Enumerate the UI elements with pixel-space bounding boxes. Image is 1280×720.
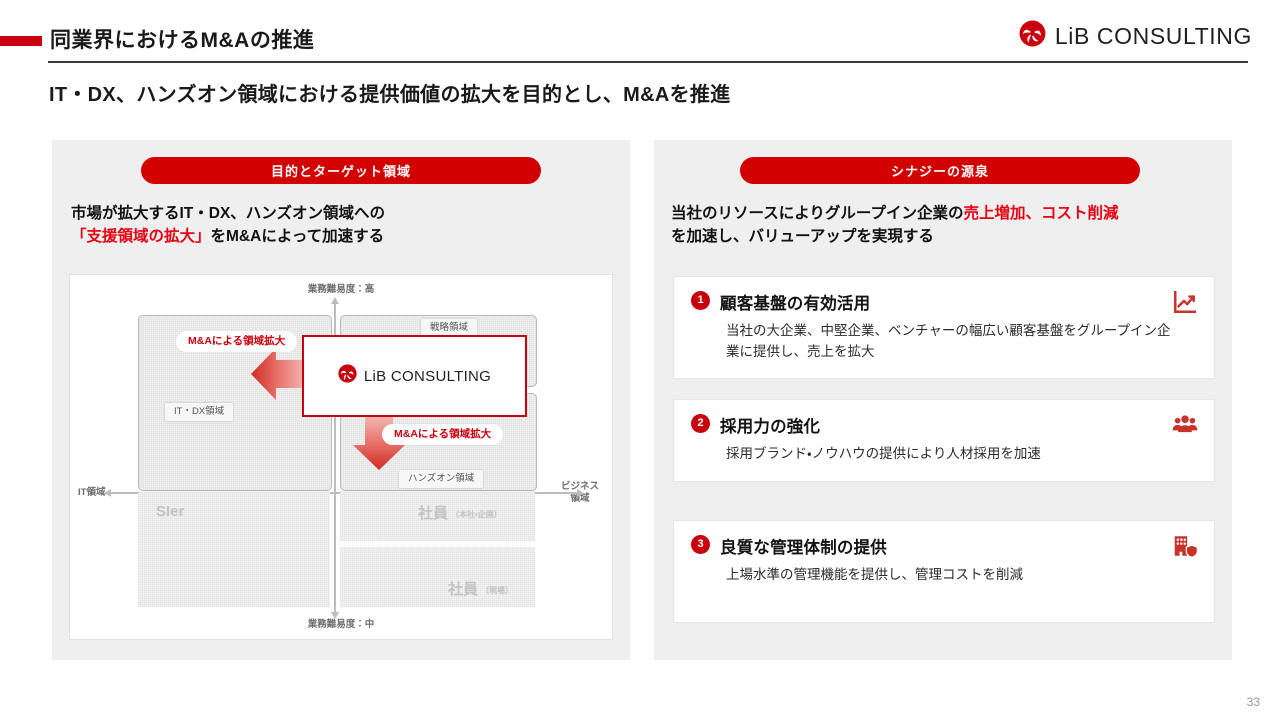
synergy-card: 2 採用力の強化 採用ブランド・ノウハウの提供により人材採用を加速 — [673, 399, 1215, 482]
page-number: 33 — [1247, 695, 1260, 709]
slide-subtitle: IT・DX、ハンズオン領域における提供価値の拡大を目的とし、M&Aを推進 — [49, 78, 731, 107]
region-tag-handson: ハンズオン領域 — [398, 469, 484, 489]
card-number-badge: 2 — [691, 414, 710, 433]
axis-label-bottom: 業務難易度：中 — [70, 619, 612, 631]
right-lead-prefix: 当社のリソースによりグループイン企業の — [671, 205, 964, 222]
callout-ma-expansion-left: M&Aによる領域拡大 — [176, 331, 297, 352]
card-title: 良質な管理体制の提供 — [720, 534, 887, 558]
left-lead-highlight: 「支援領域の拡大」 — [71, 228, 211, 245]
ghost-label-employee-field: 社員（現場） — [448, 578, 513, 599]
target-area-diagram: 業務難易度：高 業務難易度：中 IT領域 ビジネス領域 IT・DX領域 戦略領域… — [69, 274, 613, 640]
ghost-label-sier: SIer — [156, 503, 184, 520]
center-company-box: LiB CONSULTING — [302, 335, 527, 417]
ghost-label-employee-field-note: （現場） — [481, 586, 513, 595]
region-tag-itdx: IT・DX領域 — [164, 402, 234, 422]
left-lead-line1: 市場が拡大するIT・DX、ハンズオン領域への — [71, 205, 385, 222]
left-panel: 目的とターゲット領域 市場が拡大するIT・DX、ハンズオン領域への 「支援領域の… — [52, 140, 630, 660]
center-company-logo-text: LiB CONSULTING — [364, 368, 491, 385]
people-group-icon — [1172, 412, 1198, 438]
header-accent-bar — [0, 36, 42, 46]
card-title: 採用力の強化 — [720, 413, 820, 437]
ghost-label-employee-hq: 社員（本社・企画） — [418, 502, 502, 523]
card-body: 上場水準の管理機能を提供し、管理コストを削減 — [726, 565, 1176, 586]
brand-logo: LiB CONSULTING — [1019, 20, 1252, 52]
page-title: 同業界におけるM&Aの推進 — [50, 24, 314, 54]
ghost-label-employee-field-main: 社員 — [448, 581, 478, 598]
synergy-card: 1 顧客基盤の有効活用 当社の大企業、中堅企業、ベンチャーの幅広い顧客基盤をグル… — [673, 276, 1215, 379]
card-title: 顧客基盤の有効活用 — [720, 290, 870, 314]
right-panel-lead: 当社のリソースによりグループイン企業の売上増加、コスト削減 を加速し、バリューア… — [671, 202, 1119, 249]
ghost-label-employee-hq-main: 社員 — [418, 505, 448, 522]
ghost-label-employee-hq-note: （本社・企画） — [451, 510, 502, 519]
brand-logo-text: LiB CONSULTING — [1055, 23, 1252, 50]
axis-label-top: 業務難易度：高 — [70, 284, 612, 296]
right-panel-pill: シナジーの源泉 — [740, 157, 1140, 184]
axis-label-left: IT領域 — [78, 487, 105, 499]
left-panel-lead: 市場が拡大するIT・DX、ハンズオン領域への 「支援領域の拡大」をM&Aによって… — [71, 202, 385, 249]
right-lead-suffix: を加速し、バリューアップを実現する — [671, 228, 934, 245]
synergy-card: 3 良質な管理体制の提供 上場水準の管理機能を提供し、管理コストを削減 — [673, 520, 1215, 623]
callout-ma-expansion-down: M&Aによる領域拡大 — [382, 424, 503, 445]
card-number-badge: 1 — [691, 291, 710, 310]
left-lead-line2-rest: をM&Aによって加速する — [211, 228, 385, 245]
right-panel: シナジーの源泉 当社のリソースによりグループイン企業の売上増加、コスト削減 を加… — [654, 140, 1232, 660]
building-shield-icon — [1172, 533, 1198, 559]
card-body: 当社の大企業、中堅企業、ベンチャーの幅広い顧客基盤をグループイン企業に提供し、売… — [726, 321, 1176, 363]
left-panel-pill: 目的とターゲット領域 — [141, 157, 541, 184]
header-divider — [48, 61, 1248, 63]
card-number-badge: 3 — [691, 535, 710, 554]
line-chart-icon — [1172, 289, 1198, 315]
card-body: 採用ブランド・ノウハウの提供により人材採用を加速 — [726, 444, 1176, 465]
right-lead-highlight: 売上増加、コスト削減 — [964, 205, 1119, 222]
lib-swirl-logo-icon — [338, 364, 357, 388]
lib-swirl-logo-icon — [1019, 20, 1046, 52]
slide-header: 同業界におけるM&Aの推進 LiB CONSULTING — [0, 0, 1280, 62]
